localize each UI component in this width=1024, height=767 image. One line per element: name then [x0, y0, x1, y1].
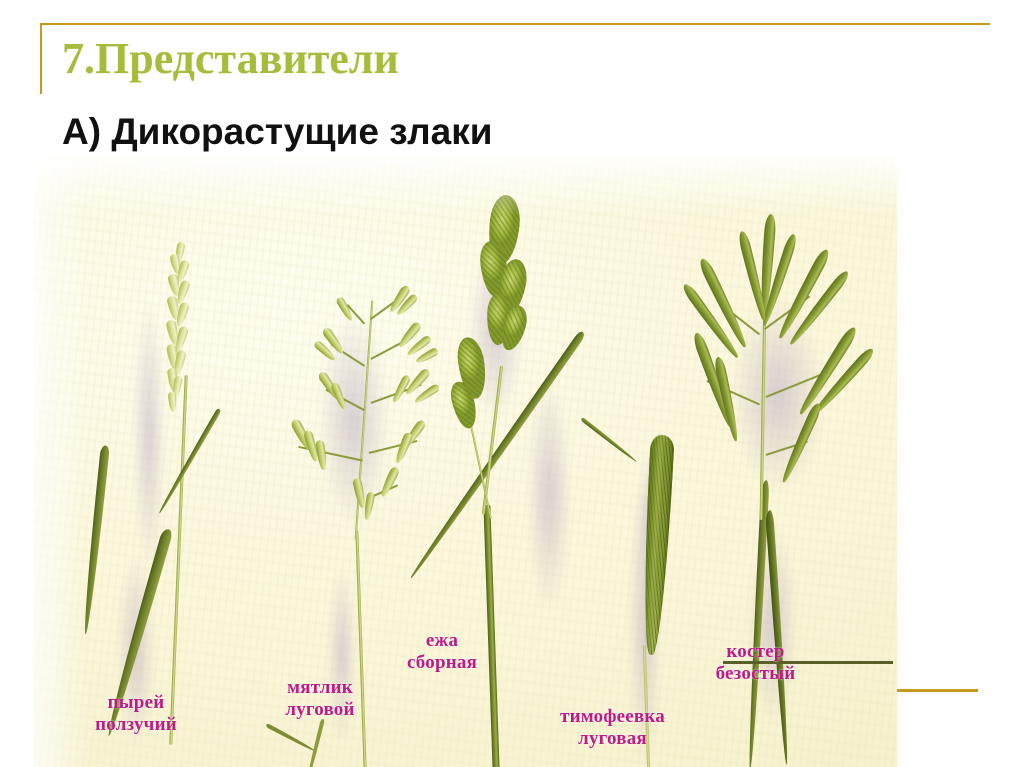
page-subtitle: A) Дикорастущие злаки	[62, 110, 493, 154]
caption-wheatgrass: пырей ползучий	[66, 692, 206, 736]
caption-timothy: тимофеевка луговая	[525, 706, 700, 750]
caption-cocksfoot: ежа сборная	[382, 630, 502, 674]
footer-rule	[897, 689, 978, 692]
title-left-rule	[40, 23, 42, 94]
slide-canvas: 7.Представители A) Дикорастущие злаки	[0, 0, 1024, 767]
page-title: 7.Представители	[62, 34, 399, 84]
caption-bluegrass: мятлик луговой	[255, 677, 385, 721]
title-top-rule	[40, 23, 990, 25]
caption-brome: костер безостый	[683, 641, 828, 685]
specimen-wheatgrass	[103, 225, 273, 745]
